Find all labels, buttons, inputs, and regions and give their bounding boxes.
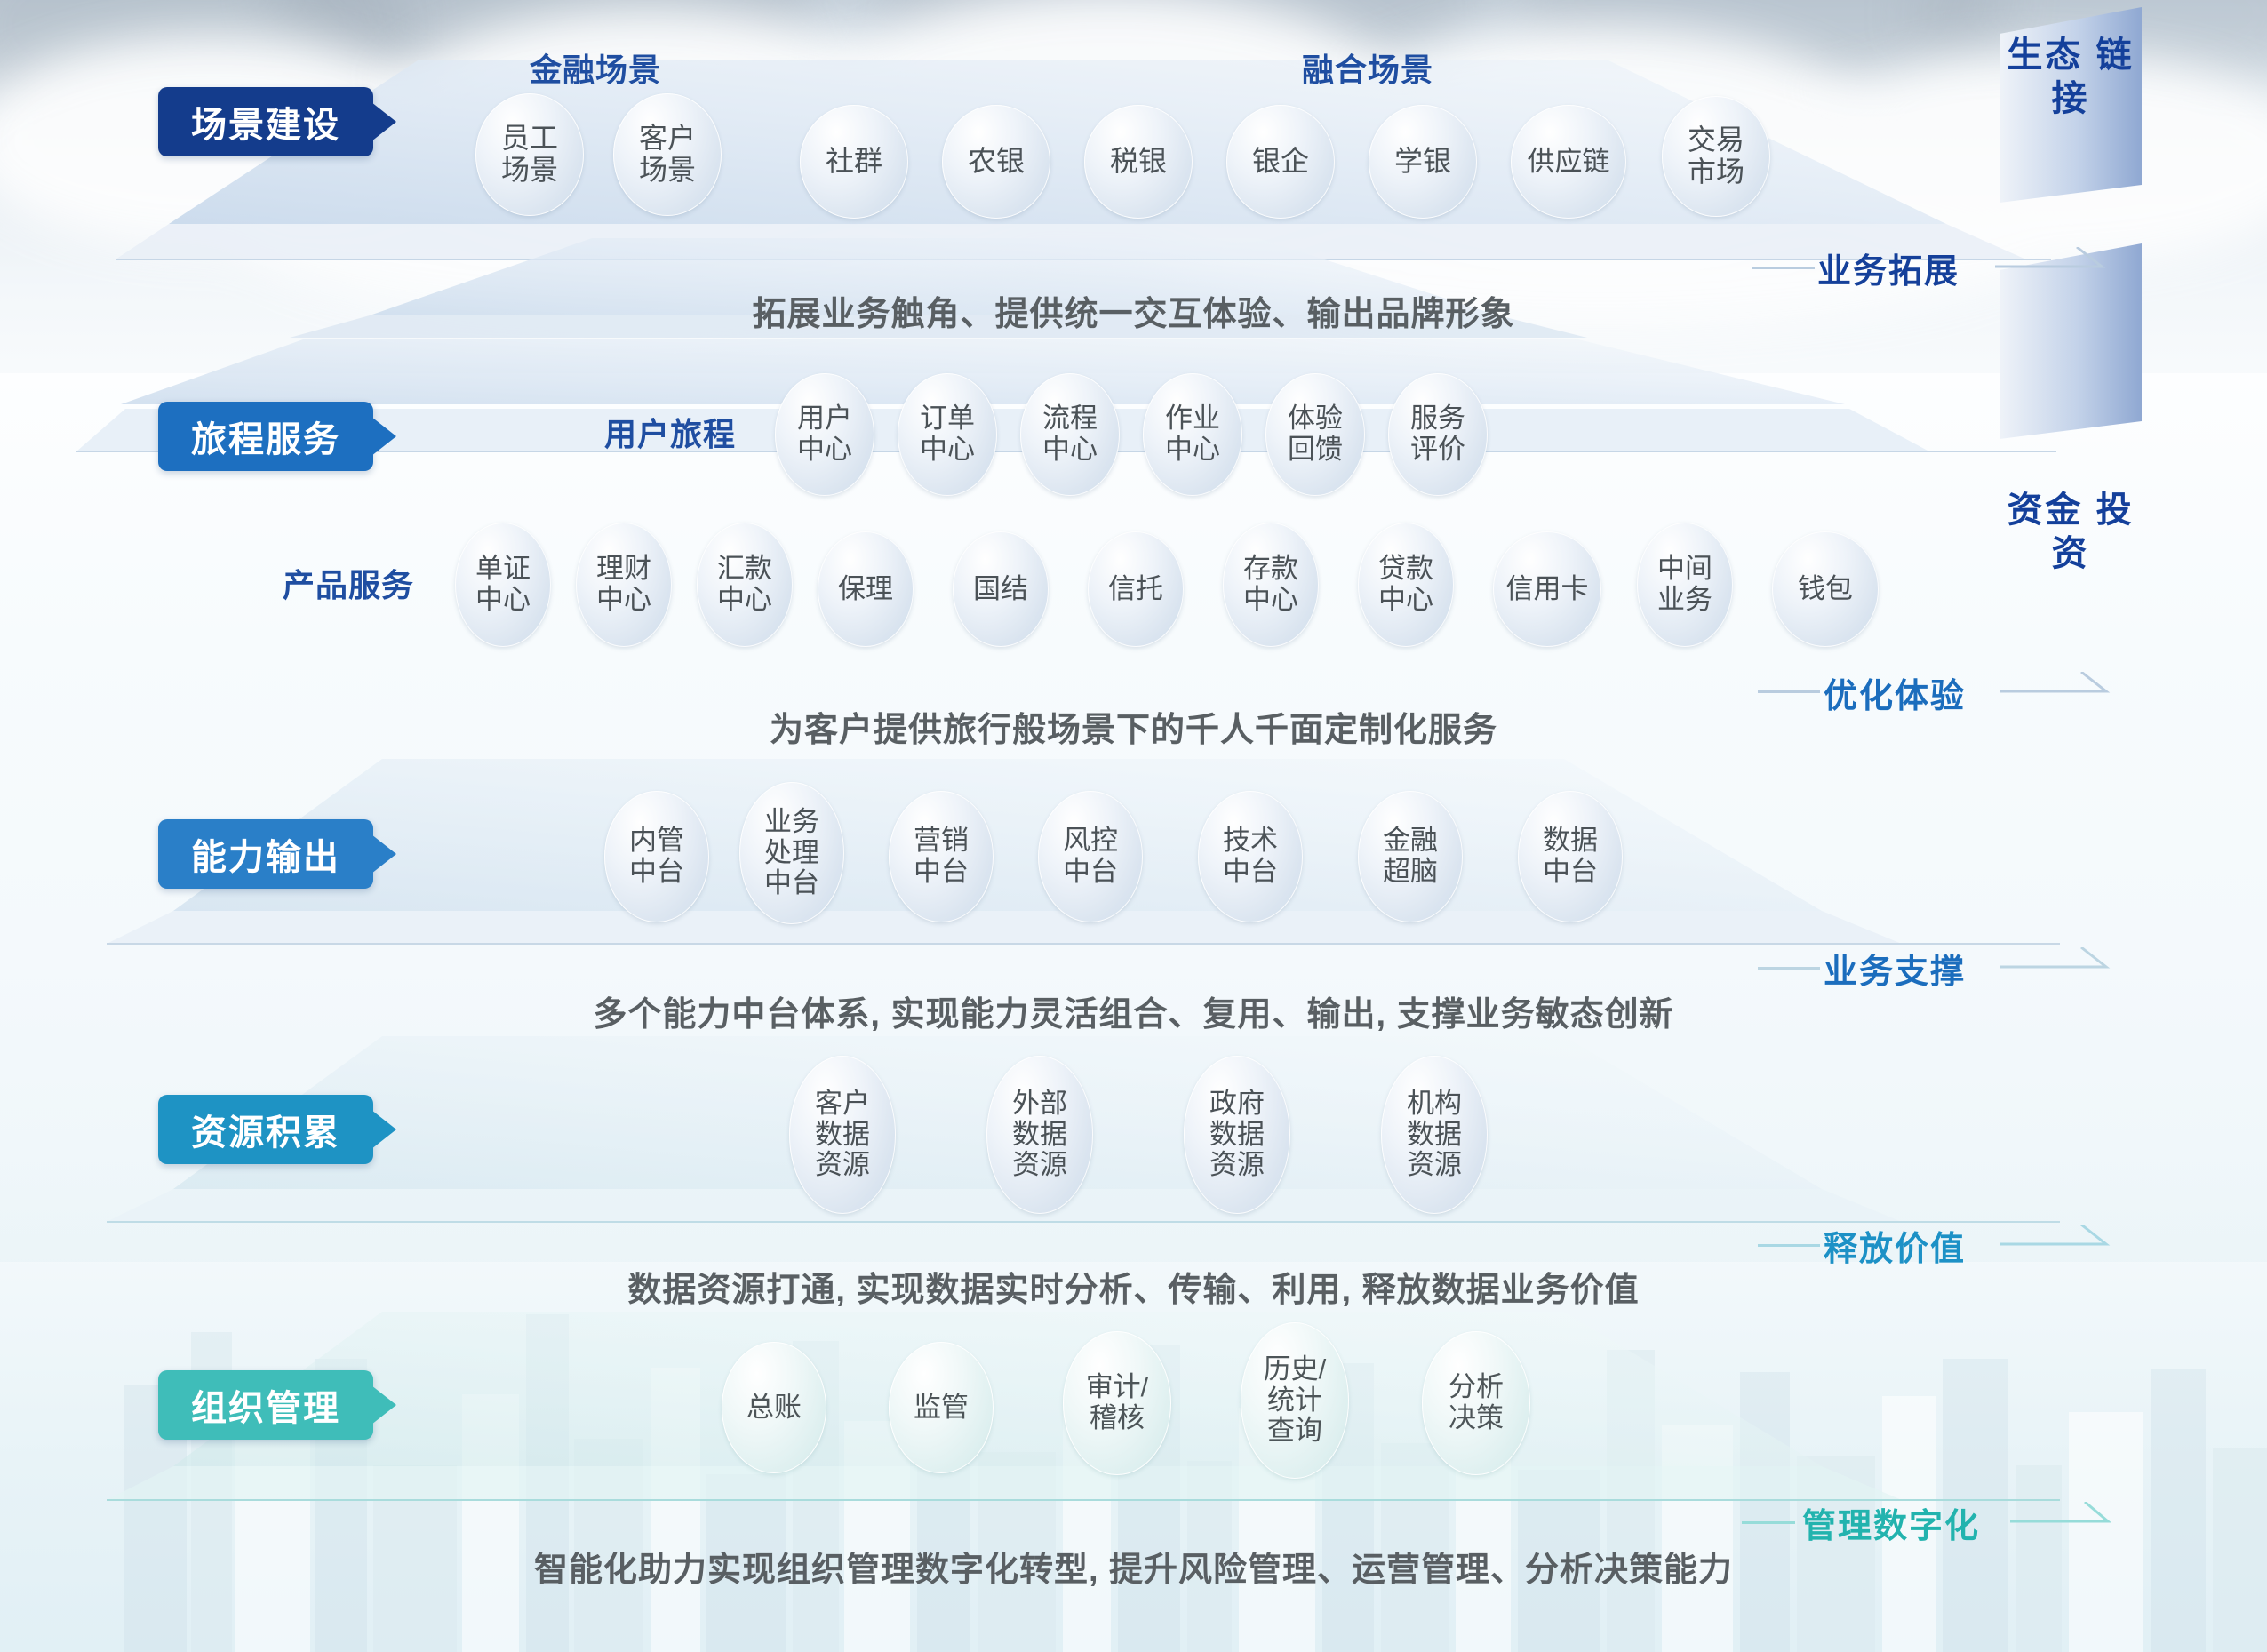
- node-capability-3[interactable]: 风控中台: [1038, 791, 1143, 922]
- right-arrow-organization: [2010, 1502, 2135, 1543]
- right-label-journey: 优化体验: [1824, 668, 1966, 717]
- node-organization-0[interactable]: 总账: [722, 1342, 826, 1473]
- node-product-4[interactable]: 国结: [953, 531, 1049, 647]
- right-arrow-resource: [2000, 1225, 2133, 1265]
- layer-pill-scene[interactable]: 场景建设: [158, 87, 373, 156]
- node-resource-1[interactable]: 外部数据资源: [986, 1056, 1093, 1214]
- node-organization-1[interactable]: 监管: [889, 1342, 994, 1473]
- caption-journey: 为客户提供旅行般场景下的千人千面定制化服务: [770, 702, 1497, 751]
- caption-organization: 智能化助力实现组织管理数字化转型, 提升风险管理、运营管理、分析决策能力: [534, 1542, 1733, 1591]
- node-capability-1[interactable]: 业务处理中台: [739, 782, 844, 924]
- right-dash-scene: [1752, 267, 1815, 269]
- node-journey-3[interactable]: 作业中心: [1143, 373, 1242, 496]
- node-product-6[interactable]: 存款中心: [1223, 523, 1319, 647]
- node-scene-3[interactable]: 农银: [942, 105, 1050, 219]
- group-title-user-journey: 用户旅程: [604, 409, 736, 455]
- right-label-capability: 业务支撑: [1824, 944, 1966, 993]
- node-product-0[interactable]: 单证中心: [455, 523, 551, 647]
- node-product-5[interactable]: 信托: [1088, 531, 1184, 647]
- node-product-3[interactable]: 保理: [818, 531, 914, 647]
- right-arrow-capability: [2000, 947, 2133, 988]
- node-scene-2[interactable]: 社群: [800, 105, 908, 219]
- node-organization-4[interactable]: 分析决策: [1422, 1331, 1530, 1475]
- layer-pill-scene-label: 场景建设: [191, 96, 340, 148]
- layer-pill-organization[interactable]: 组织管理: [158, 1370, 373, 1440]
- ribbon-fund-label: 资金 投资: [1991, 489, 2151, 576]
- node-journey-4[interactable]: 体验回馈: [1265, 373, 1365, 496]
- node-journey-5[interactable]: 服务评价: [1388, 373, 1488, 496]
- right-dash-journey: [1758, 690, 1820, 693]
- caption-resource: 数据资源打通, 实现数据实时分析、传输、利用, 释放数据业务价值: [627, 1262, 1639, 1311]
- right-label-scene: 业务拓展: [1817, 243, 1960, 292]
- node-capability-2[interactable]: 营销中台: [889, 791, 994, 922]
- group-title-product-service: 产品服务: [283, 560, 414, 606]
- node-organization-3[interactable]: 历史/统计查询: [1241, 1322, 1349, 1479]
- layer-pill-organization-label: 组织管理: [191, 1379, 340, 1431]
- right-dash-organization: [1742, 1521, 1795, 1524]
- layer-pill-resource[interactable]: 资源积累: [158, 1095, 373, 1164]
- layer-pill-capability-label: 能力输出: [191, 828, 340, 880]
- node-product-9[interactable]: 中间业务: [1637, 523, 1733, 647]
- node-resource-0[interactable]: 客户数据资源: [789, 1056, 896, 1214]
- ribbon-fund-line-1: 资金: [2007, 491, 2083, 530]
- right-label-organization: 管理数字化: [1802, 1498, 1980, 1547]
- node-scene-6[interactable]: 学银: [1369, 105, 1477, 219]
- ribbon-eco-label: 生态 链接: [1991, 34, 2151, 121]
- node-capability-5[interactable]: 金融超脑: [1358, 791, 1463, 922]
- node-journey-2[interactable]: 流程中心: [1020, 373, 1120, 496]
- layer-pill-capability[interactable]: 能力输出: [158, 819, 373, 889]
- node-product-2[interactable]: 汇款中心: [697, 523, 793, 647]
- node-capability-4[interactable]: 技术中台: [1198, 791, 1303, 922]
- node-scene-0[interactable]: 员工场景: [475, 93, 584, 216]
- layer-pill-journey-label: 旅程服务: [191, 411, 340, 462]
- node-organization-2[interactable]: 审计/稽核: [1063, 1331, 1171, 1475]
- group-title-fusion-scene: 融合场景: [1302, 44, 1433, 91]
- node-scene-7[interactable]: 供应链: [1511, 105, 1626, 219]
- node-product-10[interactable]: 钱包: [1772, 531, 1879, 647]
- node-product-1[interactable]: 理财中心: [576, 523, 672, 647]
- node-capability-0[interactable]: 内管中台: [604, 791, 709, 922]
- layer-pill-journey[interactable]: 旅程服务: [158, 402, 373, 471]
- node-product-7[interactable]: 贷款中心: [1358, 523, 1454, 647]
- node-journey-0[interactable]: 用户中心: [775, 373, 874, 496]
- right-arrow-scene: [1995, 247, 2128, 288]
- node-product-8[interactable]: 信用卡: [1493, 531, 1601, 647]
- caption-scene: 拓展业务触角、提供统一交互体验、输出品牌形象: [752, 286, 1514, 335]
- node-scene-4[interactable]: 税银: [1084, 105, 1193, 219]
- node-resource-3[interactable]: 机构数据资源: [1381, 1056, 1488, 1214]
- node-journey-1[interactable]: 订单中心: [898, 373, 997, 496]
- node-scene-5[interactable]: 银企: [1226, 105, 1335, 219]
- right-dash-resource: [1758, 1244, 1820, 1247]
- right-dash-capability: [1758, 967, 1820, 970]
- node-scene-1[interactable]: 客户场景: [613, 93, 722, 216]
- group-title-finance-scene: 金融场景: [530, 44, 661, 91]
- layer-pill-resource-label: 资源积累: [191, 1104, 340, 1155]
- node-resource-2[interactable]: 政府数据资源: [1184, 1056, 1290, 1214]
- ribbon-eco-line-1: 生态: [2007, 36, 2083, 75]
- caption-capability: 多个能力中台体系, 实现能力灵活组合、复用、输出, 支撑业务敏态创新: [593, 986, 1673, 1035]
- node-scene-8[interactable]: 交易市场: [1662, 96, 1770, 217]
- node-capability-6[interactable]: 数据中台: [1518, 791, 1623, 922]
- right-arrow-journey: [2000, 672, 2133, 713]
- right-label-resource: 释放价值: [1824, 1221, 1966, 1270]
